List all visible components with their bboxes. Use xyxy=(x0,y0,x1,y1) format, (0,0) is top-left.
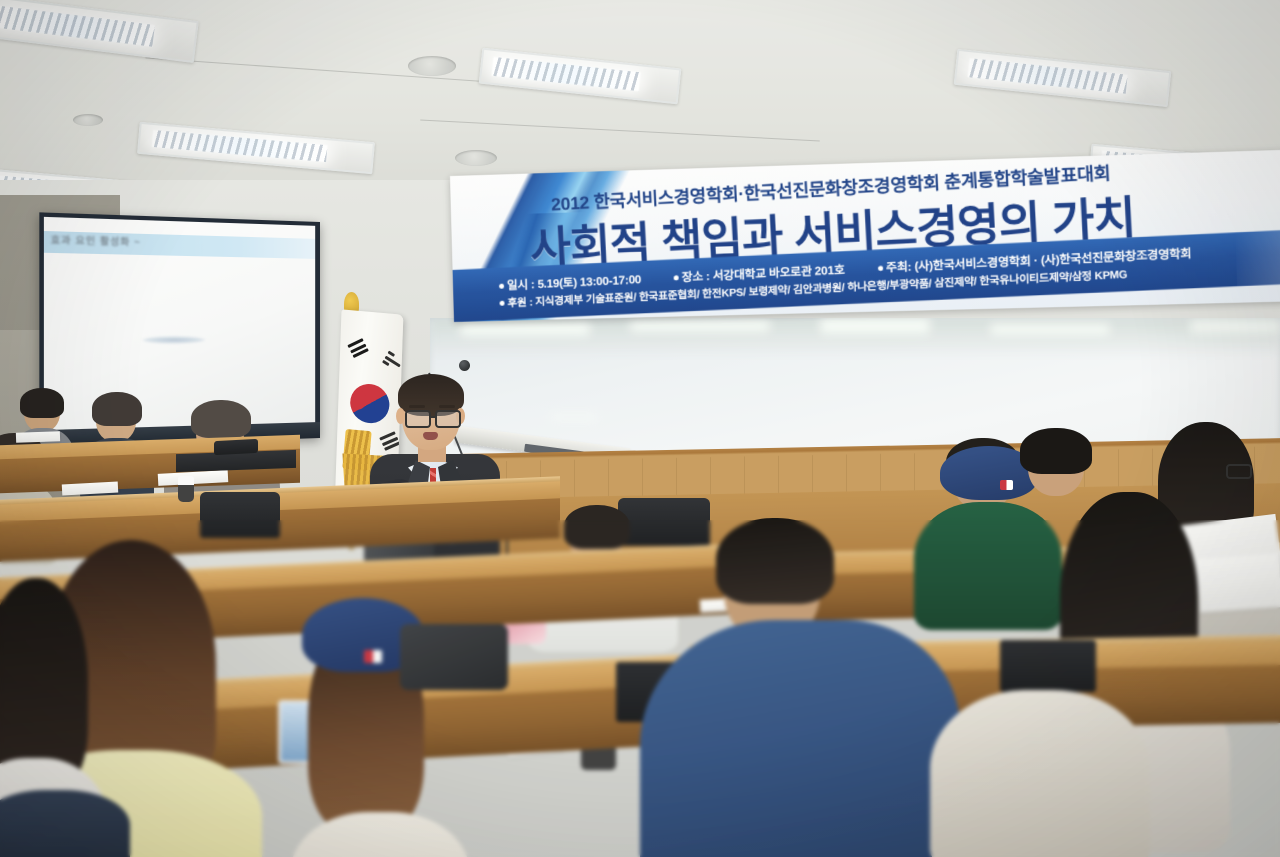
eyeglasses-icon xyxy=(405,410,431,428)
slide-logo xyxy=(142,336,205,344)
ceiling-light xyxy=(137,122,375,174)
eyeglasses-icon xyxy=(1226,464,1252,479)
downlight-icon xyxy=(408,56,456,76)
chair xyxy=(618,498,710,546)
microphone-icon xyxy=(459,360,470,371)
paper-handout xyxy=(16,431,60,443)
event-banner: 2012 한국서비스경영학회·한국선진문화창조경영학회 춘계통합학술발표대회 사… xyxy=(450,149,1280,322)
ceiling-light xyxy=(479,48,682,105)
downlight-icon xyxy=(455,150,497,166)
projection-screen-surface: 효과 요인 활성화 ~ xyxy=(44,217,315,430)
laptop xyxy=(1000,640,1096,692)
ceiling-light xyxy=(954,49,1172,107)
bag xyxy=(400,624,508,690)
ceiling-light xyxy=(0,0,199,63)
cap-logo-icon xyxy=(1000,480,1013,490)
downlight-icon xyxy=(73,114,103,126)
coffee-cup xyxy=(178,476,194,502)
chair xyxy=(200,492,280,538)
laptop xyxy=(214,439,258,455)
paper-handout xyxy=(1196,553,1280,613)
projection-screen: 효과 요인 활성화 ~ xyxy=(39,212,320,447)
lecture-hall-photo: 효과 요인 활성화 ~ xyxy=(0,0,1280,857)
cap-logo-icon xyxy=(364,650,382,663)
eyeglasses-icon xyxy=(435,410,461,428)
slide-title-text: 효과 요인 활성화 ~ xyxy=(51,232,141,248)
